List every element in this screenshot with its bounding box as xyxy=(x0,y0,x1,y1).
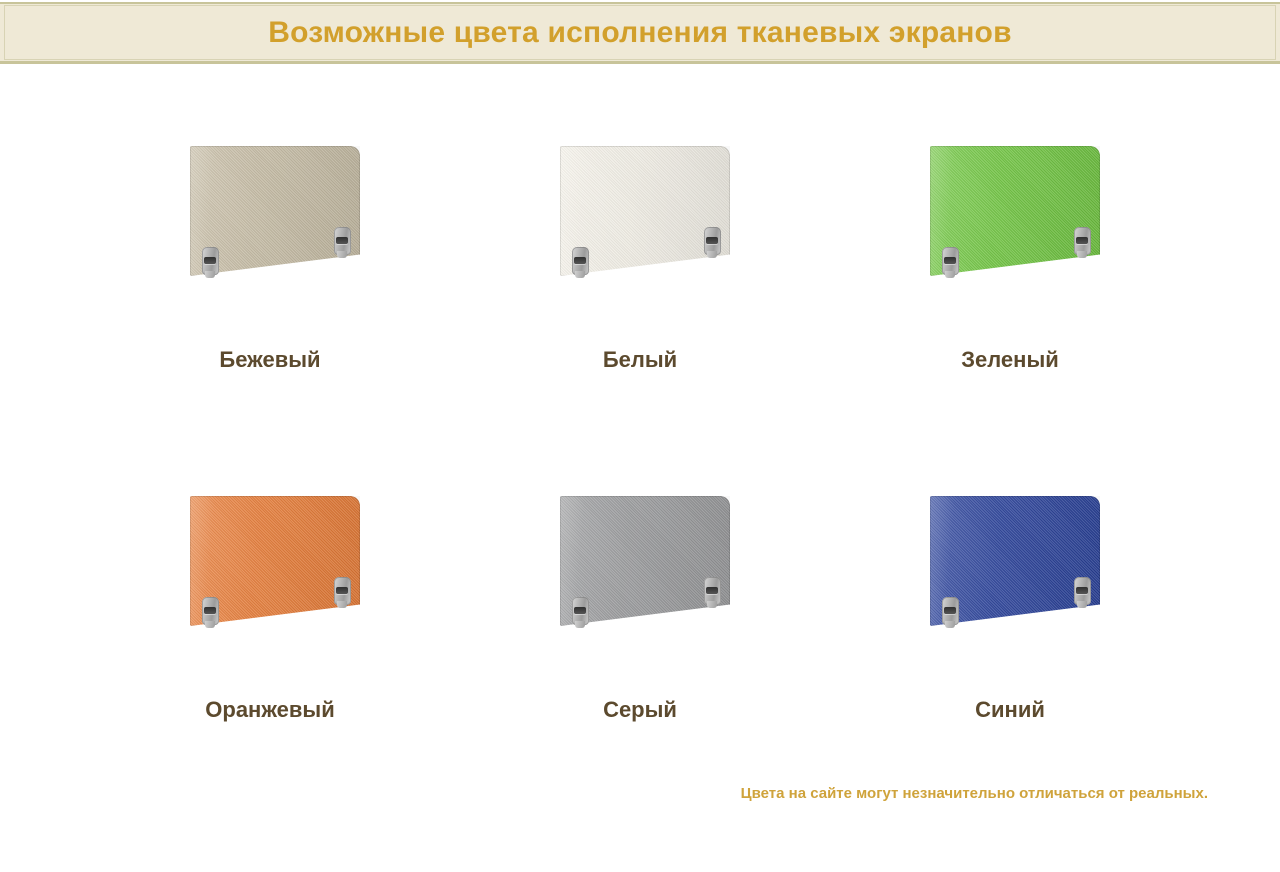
clamp-neck xyxy=(945,621,955,628)
clamp-neck xyxy=(205,271,215,278)
fabric-screen-panel-icon xyxy=(925,492,1105,637)
clamp-slot xyxy=(204,607,216,614)
swatch-cell[interactable]: Синий xyxy=(825,492,1195,782)
color-disclaimer-note: Цвета на сайте могут незначительно отлич… xyxy=(741,785,1208,802)
clamp-neck xyxy=(575,621,585,628)
panel-mounting-clamp-left-icon xyxy=(571,597,590,627)
fabric-screen-panel-icon xyxy=(185,492,365,637)
page-header-banner: Возможные цвета исполнения тканевых экра… xyxy=(0,2,1280,64)
clamp-slot xyxy=(944,607,956,614)
swatch-cell[interactable]: Оранжевый xyxy=(85,492,455,782)
swatch-label: Оранжевый xyxy=(85,697,455,723)
fabric-screen-panel-icon xyxy=(185,142,365,287)
clamp-slot xyxy=(574,257,586,264)
swatch-cell[interactable]: Зеленый xyxy=(825,142,1195,432)
panel-mounting-clamp-left-icon xyxy=(941,247,960,277)
panel-mounting-clamp-right-icon xyxy=(333,577,352,607)
clamp-neck xyxy=(945,271,955,278)
clamp-slot xyxy=(1076,587,1088,594)
clamp-slot xyxy=(574,607,586,614)
panel-mounting-clamp-right-icon xyxy=(703,577,722,607)
panel-mounting-clamp-left-icon xyxy=(201,597,220,627)
clamp-neck xyxy=(1077,601,1087,608)
clamp-neck xyxy=(1077,251,1087,258)
panel-mounting-clamp-right-icon xyxy=(1073,577,1092,607)
panel-mounting-clamp-right-icon xyxy=(333,227,352,257)
clamp-neck xyxy=(575,271,585,278)
panel-mounting-clamp-left-icon xyxy=(201,247,220,277)
clamp-slot xyxy=(1076,237,1088,244)
fabric-screen-panel-icon xyxy=(555,492,735,637)
panel-mounting-clamp-left-icon xyxy=(571,247,590,277)
clamp-slot xyxy=(706,237,718,244)
panel-mounting-clamp-right-icon xyxy=(703,227,722,257)
swatch-label: Серый xyxy=(455,697,825,723)
page-title: Возможные цвета исполнения тканевых экра… xyxy=(268,18,1011,48)
panel-mounting-clamp-right-icon xyxy=(1073,227,1092,257)
clamp-neck xyxy=(707,251,717,258)
clamp-slot xyxy=(336,587,348,594)
fabric-screen-panel-icon xyxy=(925,142,1105,287)
clamp-neck xyxy=(337,601,347,608)
fabric-screen-panel-icon xyxy=(555,142,735,287)
swatch-cell[interactable]: Бежевый xyxy=(85,142,455,432)
swatch-label: Белый xyxy=(455,347,825,373)
clamp-slot xyxy=(336,237,348,244)
clamp-slot xyxy=(204,257,216,264)
panel-mounting-clamp-left-icon xyxy=(941,597,960,627)
clamp-neck xyxy=(205,621,215,628)
swatch-label: Синий xyxy=(825,697,1195,723)
clamp-neck xyxy=(337,251,347,258)
color-swatch-grid: БежевыйБелыйЗеленыйОранжевыйСерыйСиний xyxy=(0,64,1280,764)
swatch-label: Зеленый xyxy=(825,347,1195,373)
swatch-label: Бежевый xyxy=(85,347,455,373)
clamp-slot xyxy=(944,257,956,264)
clamp-slot xyxy=(706,587,718,594)
swatch-cell[interactable]: Серый xyxy=(455,492,825,782)
clamp-neck xyxy=(707,601,717,608)
swatch-cell[interactable]: Белый xyxy=(455,142,825,432)
